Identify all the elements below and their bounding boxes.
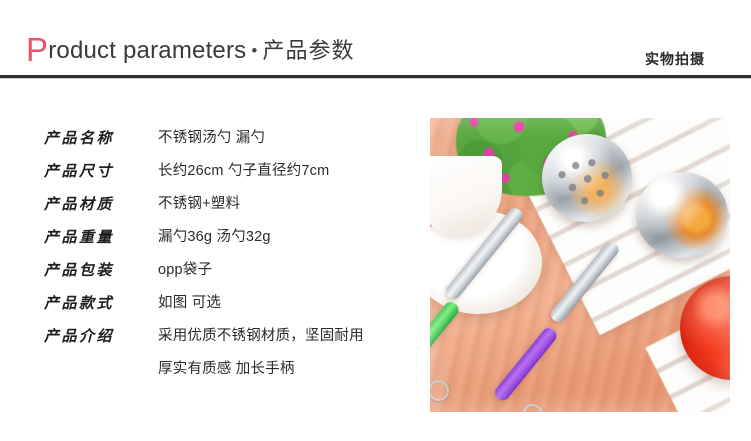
spec-value: 长约26cm 勺子直径约7cm [158,161,424,181]
spec-label: 产品包装 [44,260,158,280]
spec-value: 漏勺36g 汤勺32g [158,227,424,247]
spec-value-line2: 厚实有质感 加长手柄 [158,359,424,379]
header-divider-shadow [0,78,751,79]
page-title: Product parameters•产品参数 [26,33,355,66]
spec-value: 不锈钢+塑料 [158,194,424,214]
spec-label: 产品介绍 [44,326,158,346]
spec-row-material: 产品材质 不锈钢+塑料 [44,194,424,227]
spec-label: 产品尺寸 [44,161,158,181]
product-parameters-page: Product parameters•产品参数 实物拍摄 产品名称 不锈钢汤勺 … [0,0,751,441]
spec-label: 产品材质 [44,194,158,214]
spec-value: 如图 可选 [158,293,424,313]
soup-ladle-bowl [636,172,728,258]
spec-label: 产品重量 [44,227,158,247]
spec-value-line1: 采用优质不锈钢材质，坚固耐用 [158,328,364,344]
spec-value: 不锈钢汤勺 漏勺 [158,128,424,148]
title-separator-dot: • [246,41,262,60]
spec-value: 采用优质不锈钢材质，坚固耐用 厚实有质感 加长手柄 [158,326,424,379]
spec-row-name: 产品名称 不锈钢汤勺 漏勺 [44,128,424,161]
spec-row-description: 产品介绍 采用优质不锈钢材质，坚固耐用 厚实有质感 加长手柄 [44,326,424,388]
spec-value: opp袋子 [158,260,424,280]
page-title-en: roduct parameters [48,37,246,64]
product-photo [430,118,730,412]
page-header: Product parameters•产品参数 实物拍摄 [0,0,751,77]
spec-table: 产品名称 不锈钢汤勺 漏勺 产品尺寸 长约26cm 勺子直径约7cm 产品材质 … [44,128,424,388]
spec-row-weight: 产品重量 漏勺36g 汤勺32g [44,227,424,260]
spec-row-packaging: 产品包装 opp袋子 [44,260,424,293]
spec-row-style: 产品款式 如图 可选 [44,293,424,326]
spec-label: 产品款式 [44,293,158,313]
spec-row-size: 产品尺寸 长约26cm 勺子直径约7cm [44,161,424,194]
spec-label: 产品名称 [44,128,158,148]
real-photo-label: 实物拍摄 [645,49,705,69]
page-title-initial: P [26,31,48,68]
page-title-cn: 产品参数 [263,38,355,63]
